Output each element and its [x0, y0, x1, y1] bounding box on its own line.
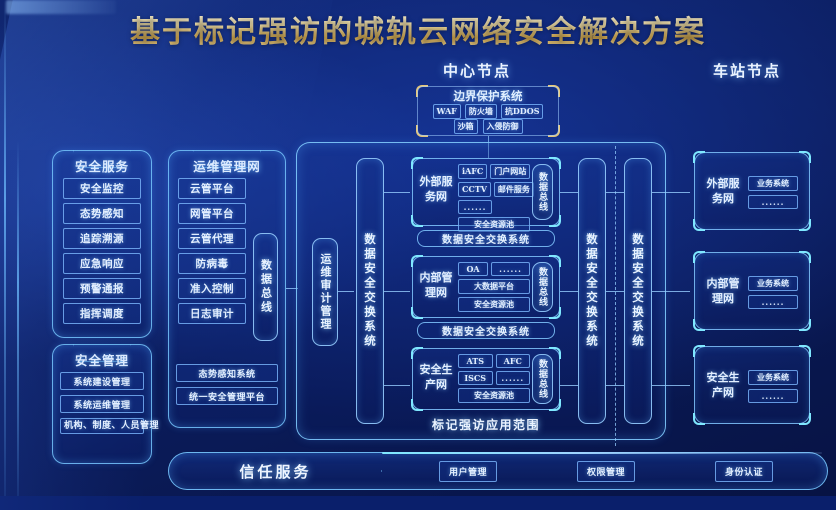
data-exchange-inner-label: 数据安全交换系统 [362, 233, 378, 349]
chip-waf[interactable]: WAF [433, 104, 461, 119]
header-center-node: 中心节点 [443, 60, 511, 81]
zone3-data-bus-label: 数据总线 [536, 359, 549, 399]
left-edge-line [4, 0, 6, 496]
item-log-audit[interactable]: 日志审计 [178, 303, 246, 324]
security-management-items: 系统建设管理 系统运维管理 机构、制度、人员管理 [60, 372, 144, 434]
item-org-policy-personnel-mgmt[interactable]: 机构、制度、人员管理 [60, 418, 144, 434]
connector-zone3-to-exchange-a [560, 385, 578, 386]
chip-firewall[interactable]: 防火墙 [465, 104, 497, 119]
item-system-om-mgmt[interactable]: 系统运维管理 [60, 395, 144, 413]
item-situational-awareness[interactable]: 态势感知 [63, 203, 141, 224]
boundary-row-2: 沙箱 入侵防御 [421, 119, 555, 134]
chip-ellipsis-zone1[interactable]: ...... [458, 200, 492, 214]
station-zone3-chips: 业务系统 ...... [748, 370, 798, 403]
data-exchange-column-a-label: 数据安全交换系统 [584, 233, 600, 349]
connector-exchange-zone3 [384, 385, 410, 386]
chip-ellipsis-station2[interactable]: ...... [748, 295, 798, 309]
panel-security-management: 安全管理 系统建设管理 系统运维管理 机构、制度、人员管理 [52, 344, 152, 464]
chip-ats[interactable]: ATS [458, 354, 493, 368]
connector-exchange-zone2 [384, 291, 410, 292]
zone3-data-bus: 数据总线 [532, 354, 553, 404]
trust-service-items: 用户管理 权限管理 身份认证 [399, 453, 813, 489]
chip-ellipsis-station1[interactable]: ...... [748, 195, 798, 209]
station-zone3-label: 安全生产网 [704, 370, 742, 401]
zone-internal-mgmt-label: 内部管理网 [418, 270, 454, 301]
chip-portal-website[interactable]: 门户网站 [490, 164, 530, 179]
page-title: 基于标记强访的城轨云网络安全解决方案 [0, 7, 836, 51]
zone2-chips: OA ...... 大数据平台 安全资源池 [458, 262, 530, 312]
chip-security-resource-pool-3[interactable]: 安全资源池 [458, 388, 530, 403]
item-emergency-response[interactable]: 应急响应 [63, 253, 141, 274]
data-exchange-column-b-label: 数据安全交换系统 [630, 233, 646, 349]
station-zone2-label: 内部管理网 [704, 276, 742, 307]
zone-safety-production-network: 安全生产网 ATS AFC ISCS ...... 安全资源池 数据总线 [412, 348, 560, 410]
panel-security-service: 安全服务 安全监控 态势感知 追踪溯源 应急响应 预警通报 指挥调度 [52, 150, 152, 338]
chip-ellipsis-zone3[interactable]: ...... [496, 371, 531, 385]
station-zone-external-service: 外部服务网 业务系统 ...... [694, 152, 810, 230]
boundary-protection-title: 边界保护系统 [417, 88, 559, 104]
data-exchange-separator-1-label: 数据安全交换系统 [442, 231, 530, 246]
data-exchange-separator-2: 数据安全交换系统 [417, 322, 555, 339]
chip-sandbox[interactable]: 沙箱 [454, 119, 478, 134]
chip-iafc[interactable]: iAFC [458, 164, 487, 179]
zone-safety-production-label: 安全生产网 [418, 362, 454, 393]
item-unified-security-platform[interactable]: 统一安全管理平台 [176, 387, 278, 405]
om-network-title: 运维管理网 [169, 156, 285, 175]
boundary-protection-system: 边界保护系统 WAF 防火墙 抗DDOS 沙箱 入侵防御 [417, 86, 559, 136]
chip-mail-service[interactable]: 邮件服务 [494, 182, 534, 197]
chip-cctv[interactable]: CCTV [458, 182, 491, 197]
item-user-management[interactable]: 用户管理 [439, 461, 497, 482]
connector-exchange-zone1 [384, 192, 410, 193]
chip-ellipsis-zone2[interactable]: ...... [491, 262, 530, 276]
item-security-monitoring[interactable]: 安全监控 [63, 178, 141, 199]
panel-om-management-network: 运维管理网 云管平台 网管平台 云管代理 防病毒 准入控制 日志审计 态势感知系… [168, 150, 286, 428]
chip-anti-ddos[interactable]: 抗DDOS [501, 104, 544, 119]
connector-audit-to-exchange [338, 291, 354, 292]
zone1-chips: iAFC 门户网站 CCTV 邮件服务 ...... 安全资源池 [458, 164, 530, 232]
left-edge-line-2 [17, 140, 19, 496]
item-situational-awareness-system[interactable]: 态势感知系统 [176, 364, 278, 382]
trust-service-title: 信任服务 [239, 461, 311, 482]
om-data-bus-label: 数据总线 [258, 259, 274, 315]
station-zone1-label: 外部服务网 [704, 176, 742, 207]
data-exchange-column-b: 数据安全交换系统 [624, 158, 652, 424]
item-identity-authentication[interactable]: 身份认证 [715, 461, 773, 482]
chip-business-system-2[interactable]: 业务系统 [748, 276, 798, 291]
item-early-warning[interactable]: 预警通报 [63, 278, 141, 299]
om-network-items-wide: 态势感知系统 统一安全管理平台 [176, 364, 278, 405]
chip-business-system-3[interactable]: 业务系统 [748, 370, 798, 385]
chip-bigdata-platform[interactable]: 大数据平台 [458, 279, 530, 294]
data-exchange-separator-2-label: 数据安全交换系统 [442, 323, 530, 338]
connector-zone2-to-exchange-a [560, 291, 578, 292]
chip-ellipsis-station3[interactable]: ...... [748, 389, 798, 403]
zone-internal-management-network: 内部管理网 OA ...... 大数据平台 安全资源池 数据总线 [412, 256, 560, 318]
boundary-row-1: WAF 防火墙 抗DDOS [421, 104, 555, 119]
data-exchange-column-a: 数据安全交换系统 [578, 158, 606, 424]
item-command-dispatch[interactable]: 指挥调度 [63, 303, 141, 324]
trust-service-bar: 信任服务 用户管理 权限管理 身份认证 [168, 452, 828, 490]
zone-external-service-label: 外部服务网 [418, 174, 454, 205]
chip-intrusion-prevention[interactable]: 入侵防御 [483, 119, 523, 134]
om-audit-management-label: 运维审计管理 [317, 253, 333, 331]
zone3-chips: ATS AFC ISCS ...... 安全资源池 [458, 354, 530, 403]
item-system-construction-mgmt[interactable]: 系统建设管理 [60, 372, 144, 390]
chip-afc[interactable]: AFC [496, 354, 531, 368]
zone2-data-bus-label: 数据总线 [536, 267, 549, 307]
connector-exchange-b-to-station-2 [652, 291, 690, 292]
om-data-bus: 数据总线 [253, 233, 278, 341]
connector-exchange-b-to-station-3 [652, 385, 690, 386]
item-access-control[interactable]: 准入控制 [178, 278, 246, 299]
item-trace-source[interactable]: 追踪溯源 [63, 228, 141, 249]
station-zone-internal-management: 内部管理网 业务系统 ...... [694, 252, 810, 330]
security-management-title: 安全管理 [53, 350, 151, 369]
item-network-mgmt-platform[interactable]: 网管平台 [178, 203, 246, 224]
zone1-data-bus: 数据总线 [532, 164, 553, 220]
chip-business-system-1[interactable]: 业务系统 [748, 176, 798, 191]
station-zone-safety-production: 安全生产网 业务系统 ...... [694, 346, 810, 424]
scope-label: 标记强访应用范围 [412, 416, 560, 433]
data-exchange-system-inner: 数据安全交换系统 [356, 158, 384, 424]
om-network-items: 云管平台 网管平台 云管代理 防病毒 准入控制 日志审计 [178, 178, 246, 324]
connector-zone1-to-exchange-a [560, 192, 578, 193]
chip-iscs[interactable]: ISCS [458, 371, 493, 385]
connector-exchange-b-to-station-1 [652, 192, 690, 193]
security-service-title: 安全服务 [53, 156, 151, 175]
item-cloud-mgmt-agent[interactable]: 云管代理 [178, 228, 246, 249]
chip-security-resource-pool-2[interactable]: 安全资源池 [458, 297, 530, 312]
station-zone1-chips: 业务系统 ...... [748, 176, 798, 209]
item-cloud-mgmt-platform[interactable]: 云管平台 [178, 178, 246, 199]
item-permission-management[interactable]: 权限管理 [577, 461, 635, 482]
chip-oa[interactable]: OA [458, 262, 488, 276]
om-audit-management-bar: 运维审计管理 [312, 238, 338, 346]
header-station-node: 车站节点 [713, 60, 781, 81]
station-zone2-chips: 业务系统 ...... [748, 276, 798, 309]
item-antivirus[interactable]: 防病毒 [178, 253, 246, 274]
data-exchange-separator-1: 数据安全交换系统 [417, 230, 555, 247]
node-boundary-divider [615, 146, 616, 446]
zone-external-service-network: 外部服务网 iAFC 门户网站 CCTV 邮件服务 ...... 安全资源池 数… [412, 158, 560, 226]
zone2-data-bus: 数据总线 [532, 262, 553, 312]
security-service-items: 安全监控 态势感知 追踪溯源 应急响应 预警通报 指挥调度 [63, 178, 141, 324]
diagram-canvas: 基于标记强访的城轨云网络安全解决方案 中心节点 车站节点 边界保护系统 WAF … [0, 0, 836, 496]
zone1-data-bus-label: 数据总线 [536, 172, 549, 212]
